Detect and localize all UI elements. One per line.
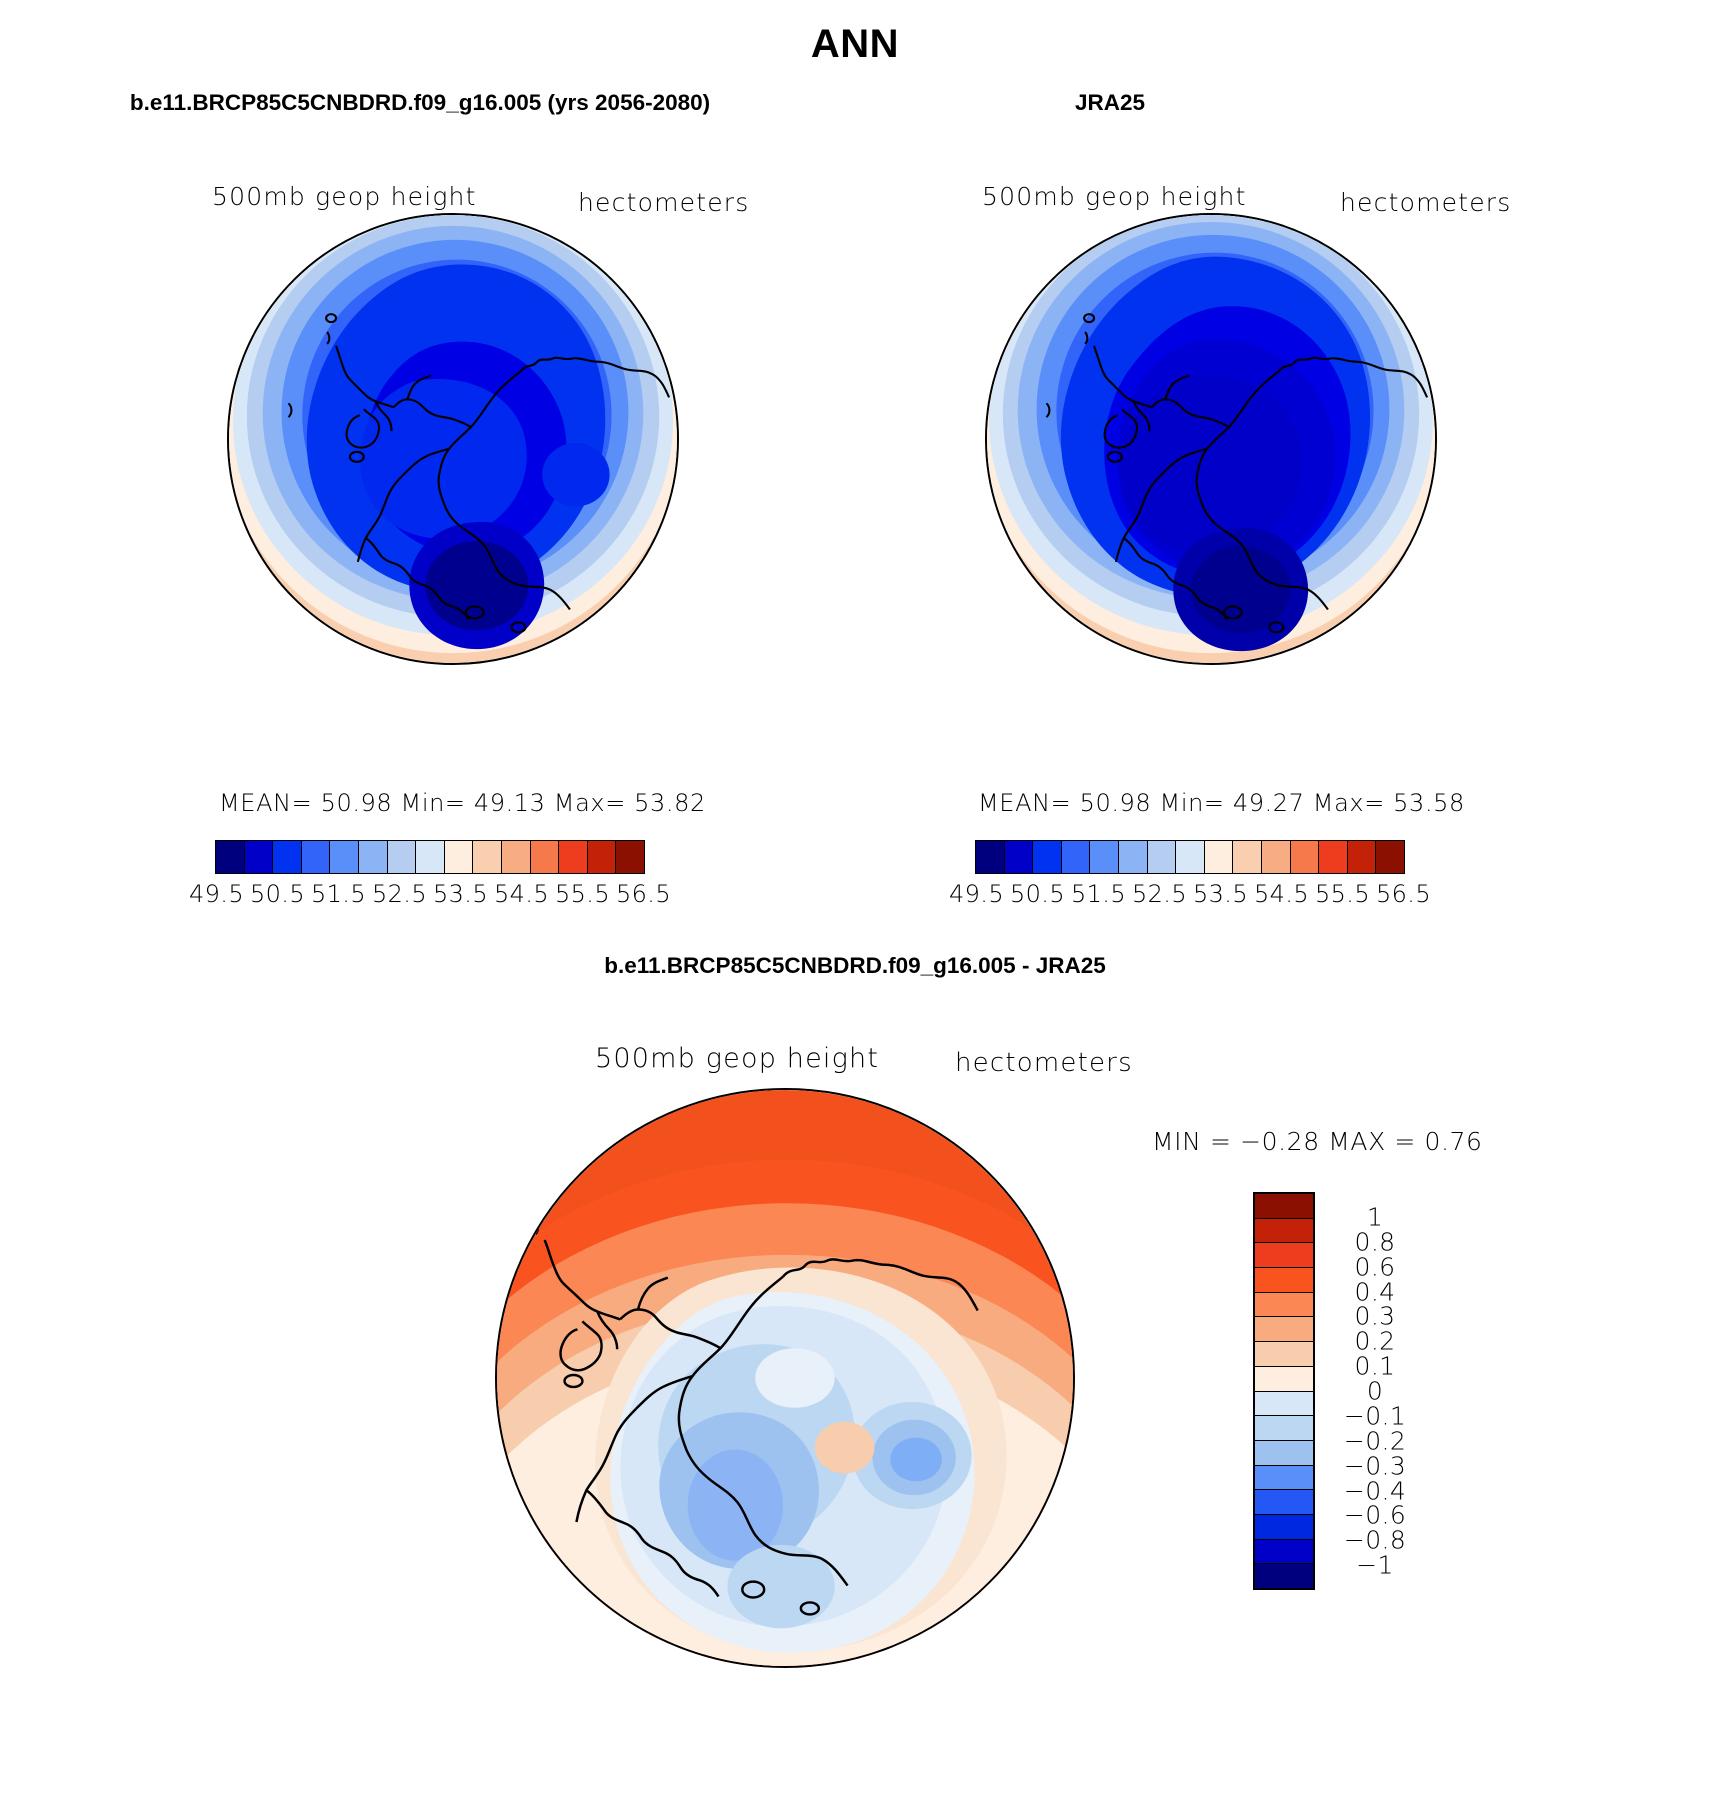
colorbar-swatch[interactable] bbox=[1255, 1515, 1313, 1540]
diff-map-surface bbox=[495, 1088, 1075, 1668]
colorbar-tick-label: 50.5 bbox=[247, 880, 308, 908]
colorbar-swatch[interactable] bbox=[1005, 841, 1034, 873]
colorbar-swatch[interactable] bbox=[1255, 1268, 1313, 1293]
left-contour-group bbox=[229, 215, 677, 663]
colorbar-swatch[interactable] bbox=[1233, 841, 1262, 873]
right-colorbar-ticks: 49.550.551.552.553.554.555.556.5 bbox=[946, 880, 1434, 908]
colorbar-swatch[interactable] bbox=[559, 841, 588, 873]
colorbar-swatch[interactable] bbox=[1255, 1540, 1313, 1565]
colorbar-tick-label: 50.5 bbox=[1007, 880, 1068, 908]
colorbar-swatch[interactable] bbox=[1119, 841, 1148, 873]
colorbar-swatch[interactable] bbox=[388, 841, 417, 873]
left-panel-title: b.e11.BRCP85C5CNBDRD.f09_g16.005 (yrs 20… bbox=[60, 90, 780, 116]
right-contour-group bbox=[987, 215, 1435, 663]
colorbar-tick-label: 49.5 bbox=[946, 880, 1007, 908]
colorbar-tick-label: 55.5 bbox=[1312, 880, 1373, 908]
colorbar-swatch[interactable] bbox=[1255, 1317, 1313, 1342]
colorbar-swatch[interactable] bbox=[976, 841, 1005, 873]
colorbar-swatch[interactable] bbox=[1033, 841, 1062, 873]
colorbar-swatch[interactable] bbox=[1319, 841, 1348, 873]
colorbar-tick-label: 56.5 bbox=[613, 880, 674, 908]
colorbar-swatch[interactable] bbox=[616, 841, 644, 873]
diff-map-contours bbox=[497, 1090, 1073, 1666]
colorbar-swatch[interactable] bbox=[588, 841, 617, 873]
right-map-globe bbox=[985, 213, 1437, 665]
left-map-globe bbox=[227, 213, 679, 665]
diff-colorbar[interactable] bbox=[1253, 1192, 1315, 1590]
colorbar-swatch[interactable] bbox=[216, 841, 245, 873]
colorbar-swatch[interactable] bbox=[1376, 841, 1404, 873]
colorbar-swatch[interactable] bbox=[330, 841, 359, 873]
colorbar-swatch[interactable] bbox=[531, 841, 560, 873]
colorbar-swatch[interactable] bbox=[1255, 1392, 1313, 1417]
colorbar-tick-label: 51.5 bbox=[1068, 880, 1129, 908]
colorbar-swatch[interactable] bbox=[1255, 1416, 1313, 1441]
diff-units-label: hectometers bbox=[955, 1048, 1133, 1078]
right-variable-label: 500mb geop height bbox=[982, 182, 1247, 211]
colorbar-swatch[interactable] bbox=[1255, 1441, 1313, 1466]
colorbar-swatch[interactable] bbox=[245, 841, 274, 873]
left-map-surface bbox=[227, 213, 679, 665]
colorbar-swatch[interactable] bbox=[473, 841, 502, 873]
colorbar-tick-label: 53.5 bbox=[1190, 880, 1251, 908]
colorbar-swatch[interactable] bbox=[1062, 841, 1091, 873]
colorbar-swatch[interactable] bbox=[1262, 841, 1291, 873]
colorbar-swatch[interactable] bbox=[416, 841, 445, 873]
colorbar-swatch[interactable] bbox=[502, 841, 531, 873]
colorbar-swatch[interactable] bbox=[1348, 841, 1377, 873]
colorbar-tick-label: −1 bbox=[1332, 1551, 1418, 1580]
page-title: ANN bbox=[0, 22, 1710, 67]
colorbar-swatch[interactable] bbox=[1255, 1293, 1313, 1318]
left-map-contours bbox=[229, 215, 677, 663]
colorbar-swatch[interactable] bbox=[359, 841, 388, 873]
colorbar-swatch[interactable] bbox=[273, 841, 302, 873]
diff-colorbar-labels: 10.80.60.40.30.20.10−0.1−0.2−0.3−0.4−0.6… bbox=[1332, 1192, 1452, 1590]
colorbar-swatch[interactable] bbox=[1255, 1342, 1313, 1367]
left-stats: MEAN= 50.98 Min= 49.13 Max= 53.82 bbox=[219, 789, 706, 817]
colorbar-swatch[interactable] bbox=[1291, 841, 1320, 873]
diff-variable-label: 500mb geop height bbox=[595, 1043, 879, 1074]
colorbar-tick-label: 53.5 bbox=[430, 880, 491, 908]
diff-contour-group bbox=[497, 1090, 1073, 1666]
colorbar-swatch[interactable] bbox=[1255, 1564, 1313, 1588]
right-panel-title: JRA25 bbox=[790, 90, 1430, 116]
left-colorbar[interactable] bbox=[215, 840, 645, 874]
colorbar-tick-label: 54.5 bbox=[1251, 880, 1312, 908]
colorbar-tick-label: 52.5 bbox=[1129, 880, 1190, 908]
colorbar-swatch[interactable] bbox=[1148, 841, 1177, 873]
left-variable-label: 500mb geop height bbox=[212, 182, 477, 211]
right-map-surface bbox=[985, 213, 1437, 665]
colorbar-tick-label: 55.5 bbox=[552, 880, 613, 908]
diff-map-globe bbox=[495, 1088, 1075, 1668]
colorbar-swatch[interactable] bbox=[302, 841, 331, 873]
diff-panel-title: b.e11.BRCP85C5CNBDRD.f09_g16.005 - JRA25 bbox=[355, 953, 1355, 979]
colorbar-tick-label: 56.5 bbox=[1373, 880, 1434, 908]
colorbar-swatch[interactable] bbox=[1255, 1490, 1313, 1515]
right-colorbar[interactable] bbox=[975, 840, 1405, 874]
colorbar-swatch[interactable] bbox=[1090, 841, 1119, 873]
colorbar-tick-label: 51.5 bbox=[308, 880, 369, 908]
colorbar-swatch[interactable] bbox=[1205, 841, 1234, 873]
right-stats: MEAN= 50.98 Min= 49.27 Max= 53.58 bbox=[978, 789, 1465, 817]
diff-stats: MIN = −0.28 MAX = 0.76 bbox=[1152, 1127, 1483, 1156]
colorbar-tick-label: 49.5 bbox=[186, 880, 247, 908]
left-colorbar-ticks: 49.550.551.552.553.554.555.556.5 bbox=[186, 880, 674, 908]
colorbar-tick-label: 52.5 bbox=[369, 880, 430, 908]
colorbar-swatch[interactable] bbox=[1255, 1219, 1313, 1244]
colorbar-swatch[interactable] bbox=[1255, 1194, 1313, 1219]
colorbar-swatch[interactable] bbox=[1255, 1243, 1313, 1268]
colorbar-swatch[interactable] bbox=[1255, 1367, 1313, 1392]
colorbar-swatch[interactable] bbox=[1255, 1466, 1313, 1491]
colorbar-swatch[interactable] bbox=[445, 841, 474, 873]
colorbar-swatch[interactable] bbox=[1176, 841, 1205, 873]
right-map-contours bbox=[987, 215, 1435, 663]
colorbar-tick-label: 54.5 bbox=[491, 880, 552, 908]
